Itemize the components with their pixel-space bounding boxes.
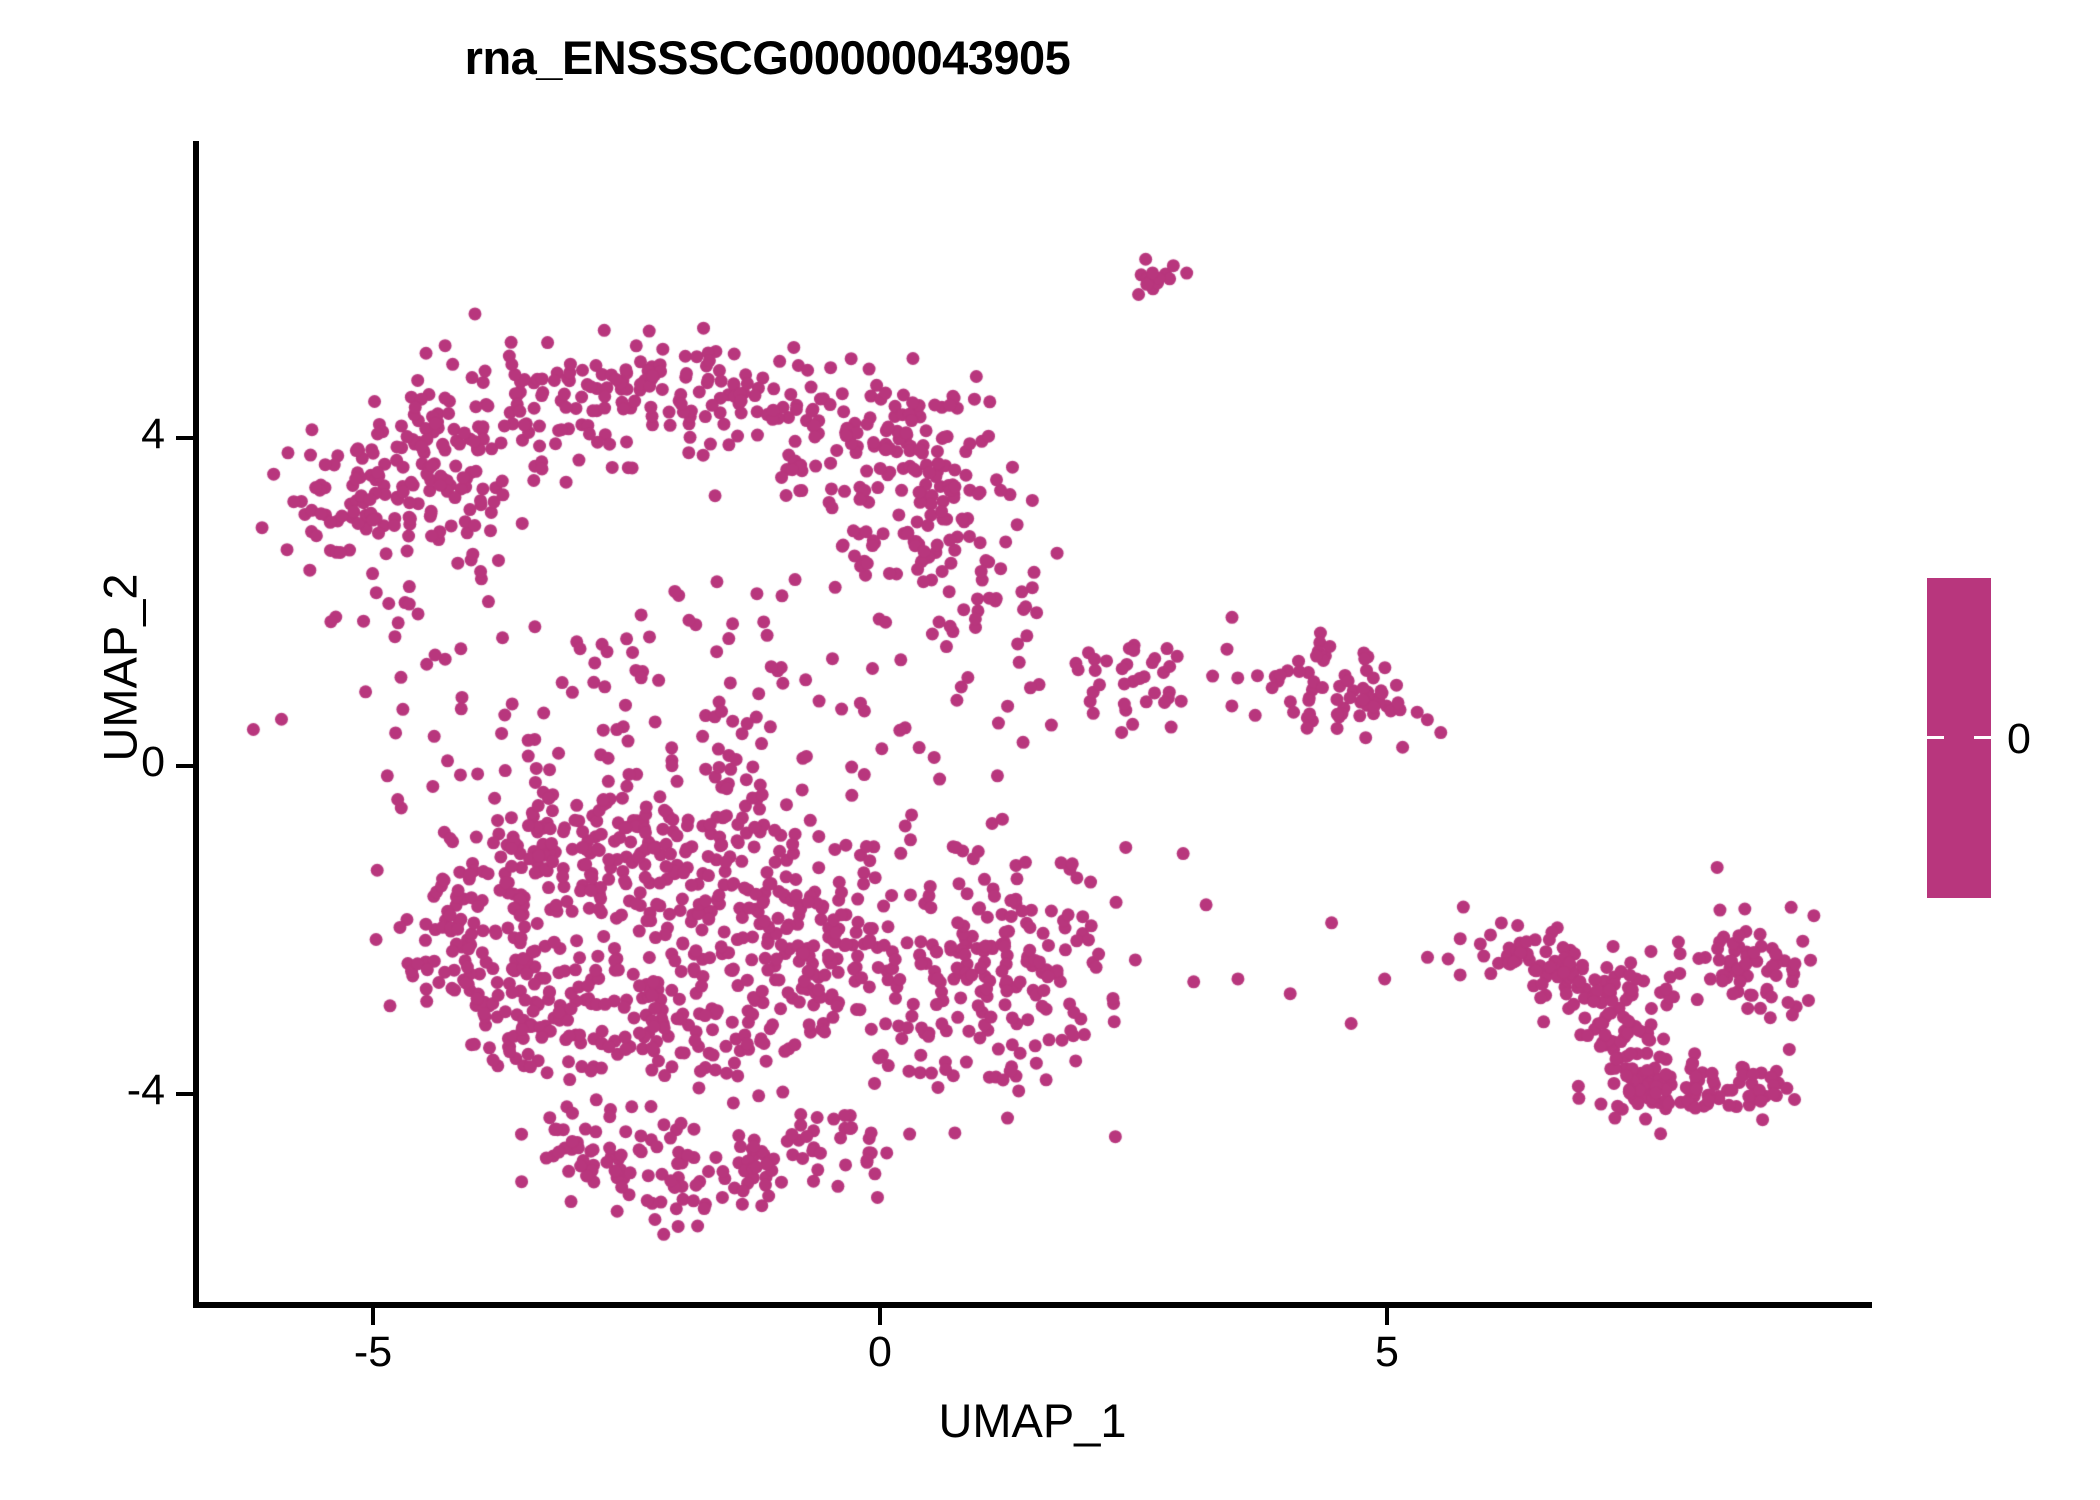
y-axis-tick-mark bbox=[176, 764, 193, 768]
colorbar-legend[interactable]: 0 bbox=[1927, 578, 1991, 898]
y-axis-tick-mark bbox=[176, 436, 193, 440]
colorbar-tick-label: 0 bbox=[2007, 715, 2031, 764]
y-axis-label-wrapper: UMAP_2 bbox=[93, 268, 148, 1068]
y-axis-tick-mark bbox=[176, 1092, 193, 1096]
x-axis-tick-label: 5 bbox=[1327, 1328, 1447, 1377]
y-axis-label: UMAP_2 bbox=[94, 573, 147, 761]
x-axis-tick-mark bbox=[878, 1308, 882, 1325]
page-title: rna_ENSSSCG00000043905 bbox=[0, 30, 1535, 85]
scatter-points-layer bbox=[0, 0, 2100, 1500]
colorbar-tick-left bbox=[1927, 736, 1944, 739]
chart-root: rna_ENSSSCG00000043905 -5 0 5 4 0 -4 UMA… bbox=[0, 0, 2100, 1500]
x-axis-tick-mark bbox=[1385, 1308, 1389, 1325]
x-axis-tick-label: -5 bbox=[313, 1328, 433, 1377]
colorbar-tick-right bbox=[1974, 736, 1991, 739]
y-axis-tick-label: -4 bbox=[60, 1066, 165, 1115]
x-axis-tick-mark bbox=[371, 1308, 375, 1325]
x-axis-line bbox=[193, 1302, 1872, 1308]
x-axis-tick-label: 0 bbox=[820, 1328, 940, 1377]
y-axis-line bbox=[193, 141, 199, 1308]
x-axis-label: UMAP_1 bbox=[193, 1393, 1872, 1448]
